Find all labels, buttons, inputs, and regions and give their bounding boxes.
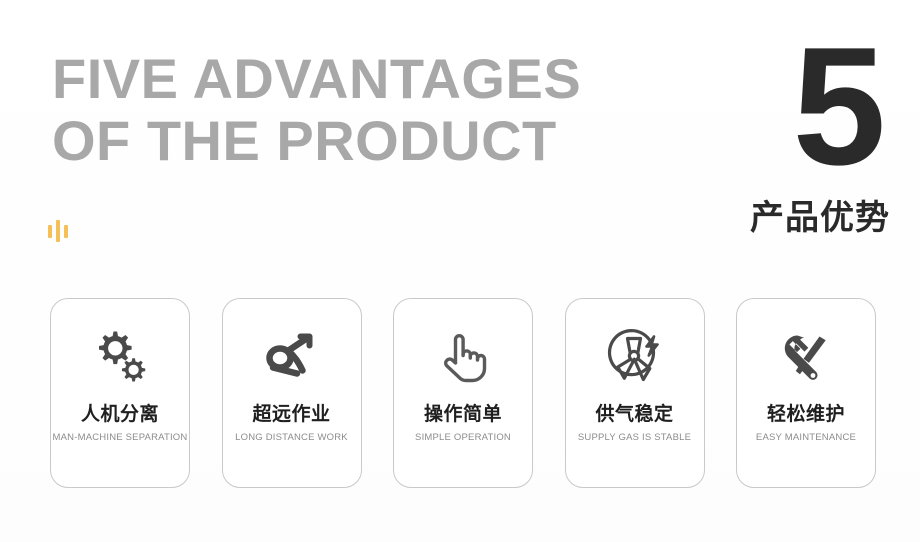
advantage-card-supply-gas-stable[interactable]: 供气稳定 SUPPLY GAS IS STABLE: [565, 298, 705, 488]
card-title: 超远作业: [252, 403, 330, 425]
fan-lightning-icon: [604, 325, 666, 387]
card-subtitle: MAN-MACHINE SEPARATION: [53, 432, 188, 444]
bar-2: [56, 220, 60, 242]
advantage-card-list: 人机分离 MAN-MACHINE SEPARATION 超远作业 LONG DI…: [50, 298, 876, 488]
advantage-card-man-machine-separation[interactable]: 人机分离 MAN-MACHINE SEPARATION: [50, 298, 190, 488]
subtitle-chinese: 产品优势: [750, 198, 890, 238]
card-subtitle: LONG DISTANCE WORK: [235, 432, 348, 444]
page-title: FIVE ADVANTAGES OF THE PRODUCT: [52, 48, 672, 172]
card-subtitle: SIMPLE OPERATION: [415, 432, 511, 444]
poster-canvas: FIVE ADVANTAGES OF THE PRODUCT 5 产品优势 人机…: [0, 0, 920, 542]
loop-arrow-icon: [261, 325, 323, 387]
card-title: 供气稳定: [595, 403, 673, 425]
header-section: FIVE ADVANTAGES OF THE PRODUCT 5 产品优势: [0, 0, 920, 285]
advantage-card-easy-maintenance[interactable]: 轻松维护 EASY MAINTENANCE: [736, 298, 876, 488]
pointing-hand-icon: [432, 325, 494, 387]
advantage-card-simple-operation[interactable]: 操作简单 SIMPLE OPERATION: [393, 298, 533, 488]
card-subtitle: SUPPLY GAS IS STABLE: [578, 432, 691, 444]
wrench-screwdriver-icon: [775, 325, 837, 387]
gears-icon: [89, 325, 151, 387]
equalizer-bars-icon: [48, 218, 82, 244]
card-subtitle: EASY MAINTENANCE: [756, 432, 856, 444]
bar-1: [48, 225, 52, 238]
card-title: 操作简单: [424, 403, 502, 425]
card-title: 人机分离: [81, 403, 159, 425]
advantage-card-long-distance-work[interactable]: 超远作业 LONG DISTANCE WORK: [222, 298, 362, 488]
bar-3: [64, 225, 68, 238]
big-number: 5: [793, 22, 884, 190]
card-title: 轻松维护: [767, 403, 845, 425]
